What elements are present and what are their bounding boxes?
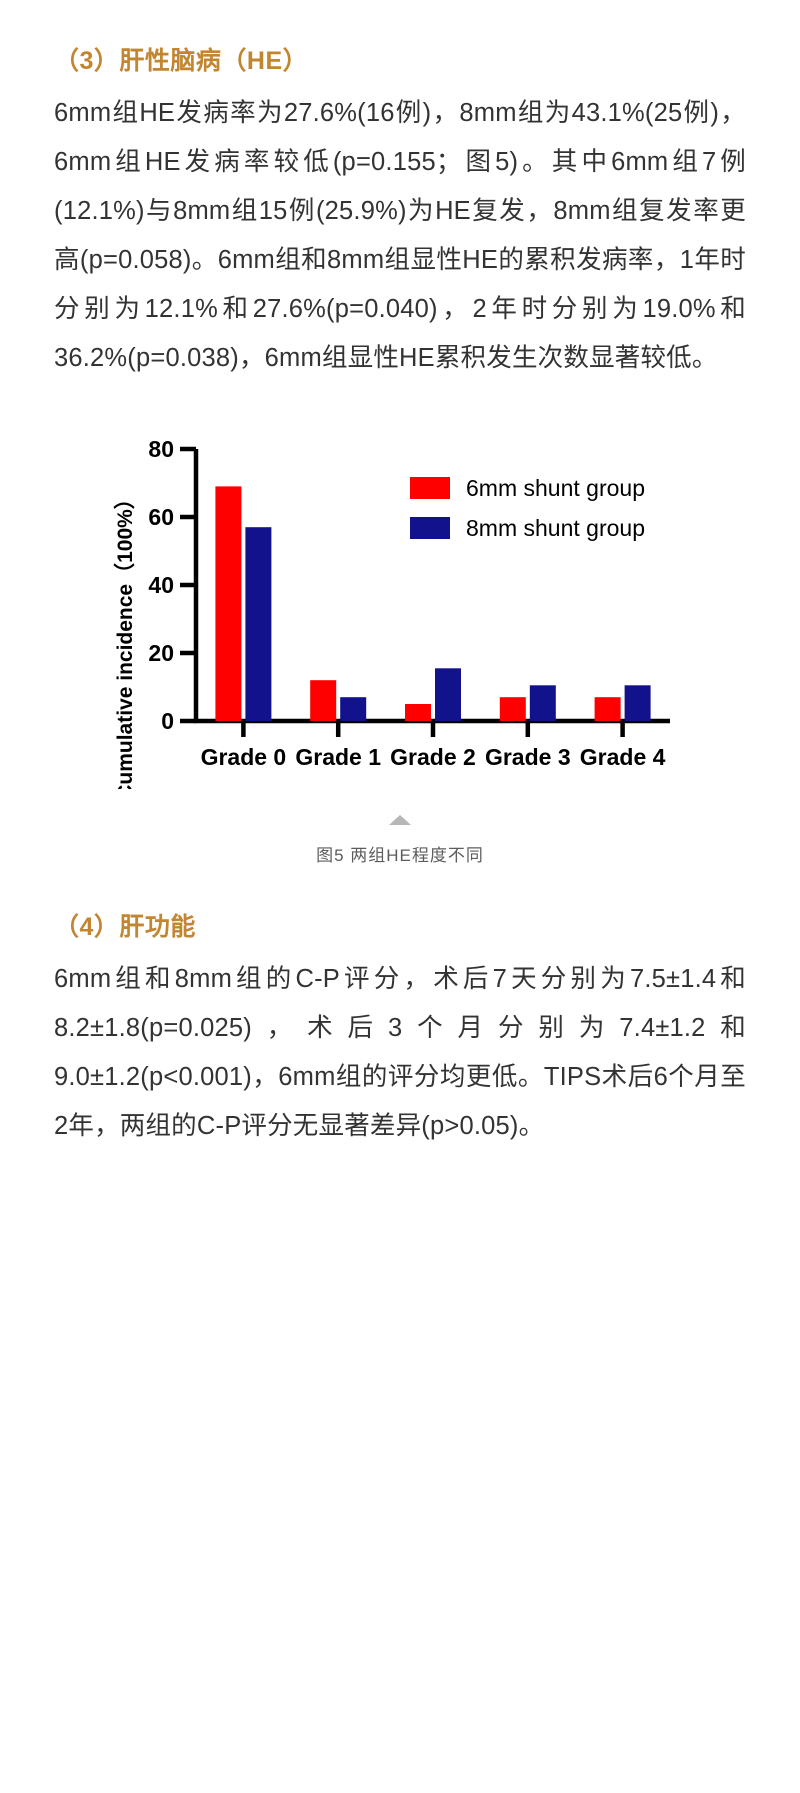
chart-bar: [530, 685, 556, 721]
section-heading-liver-function: （4）肝功能: [54, 866, 746, 955]
chart-legend-swatch: [410, 477, 450, 499]
chart-y-axis-label: Cumulative incidence（100%）: [113, 488, 137, 789]
chart-legend-swatch: [410, 517, 450, 539]
chart-bar: [215, 486, 241, 721]
article-page: （3）肝性脑病（HE） 6mm组HE发病率为27.6%(16例)，8mm组为43…: [0, 0, 800, 1793]
chart-y-tick-label: 20: [148, 640, 174, 666]
chart-x-tick-label: Grade 2: [390, 744, 476, 770]
chart-bar: [245, 527, 271, 721]
chart-y-tick-label: 0: [161, 708, 174, 734]
article-content: （3）肝性脑病（HE） 6mm组HE发病率为27.6%(16例)，8mm组为43…: [0, 0, 800, 1211]
chart-bar: [340, 697, 366, 721]
figure-caption: 图5 两组HE程度不同: [54, 841, 746, 866]
figure-5: Cumulative incidence（100%） 020406080 Gra…: [54, 429, 746, 866]
section-body-he: 6mm组HE发病率为27.6%(16例)，8mm组为43.1%(25例)，6mm…: [54, 89, 746, 383]
chart-legend: 6mm shunt group8mm shunt group: [410, 475, 645, 541]
chart-x-tick-label: Grade 4: [580, 744, 666, 770]
chart-bar: [625, 685, 651, 721]
chart-bar: [310, 680, 336, 721]
chart-bar: [405, 704, 431, 721]
section-body-liver-function: 6mm组和8mm组的C-P评分，术后7天分别为7.5±1.4和8.2±1.8(p…: [54, 955, 746, 1151]
chart-x-tick-label: Grade 1: [295, 744, 381, 770]
chart-y-tick-label: 80: [148, 436, 174, 462]
chart-legend-label: 6mm shunt group: [466, 475, 645, 501]
chart-bar: [435, 668, 461, 721]
chart-bar: [595, 697, 621, 721]
chart-x-tick-labels: Grade 0Grade 1Grade 2Grade 3Grade 4: [201, 744, 666, 770]
chart-bar: [500, 697, 526, 721]
figure-marker: [54, 815, 746, 825]
chart-x-ticks: [243, 721, 622, 737]
triangle-up-icon: [389, 815, 411, 825]
chart-y-ticks: 020406080: [148, 436, 196, 734]
chart-legend-label: 8mm shunt group: [466, 515, 645, 541]
chart-y-tick-label: 60: [148, 504, 174, 530]
chart-x-tick-label: Grade 3: [485, 744, 571, 770]
cumulative-incidence-bar-chart: Cumulative incidence（100%） 020406080 Gra…: [110, 429, 690, 789]
chart-y-tick-label: 40: [148, 572, 174, 598]
bottom-spacer: [54, 1151, 746, 1211]
chart-x-tick-label: Grade 0: [201, 744, 287, 770]
chart-container: Cumulative incidence（100%） 020406080 Gra…: [54, 429, 746, 789]
section-heading-he: （3）肝性脑病（HE）: [54, 0, 746, 89]
